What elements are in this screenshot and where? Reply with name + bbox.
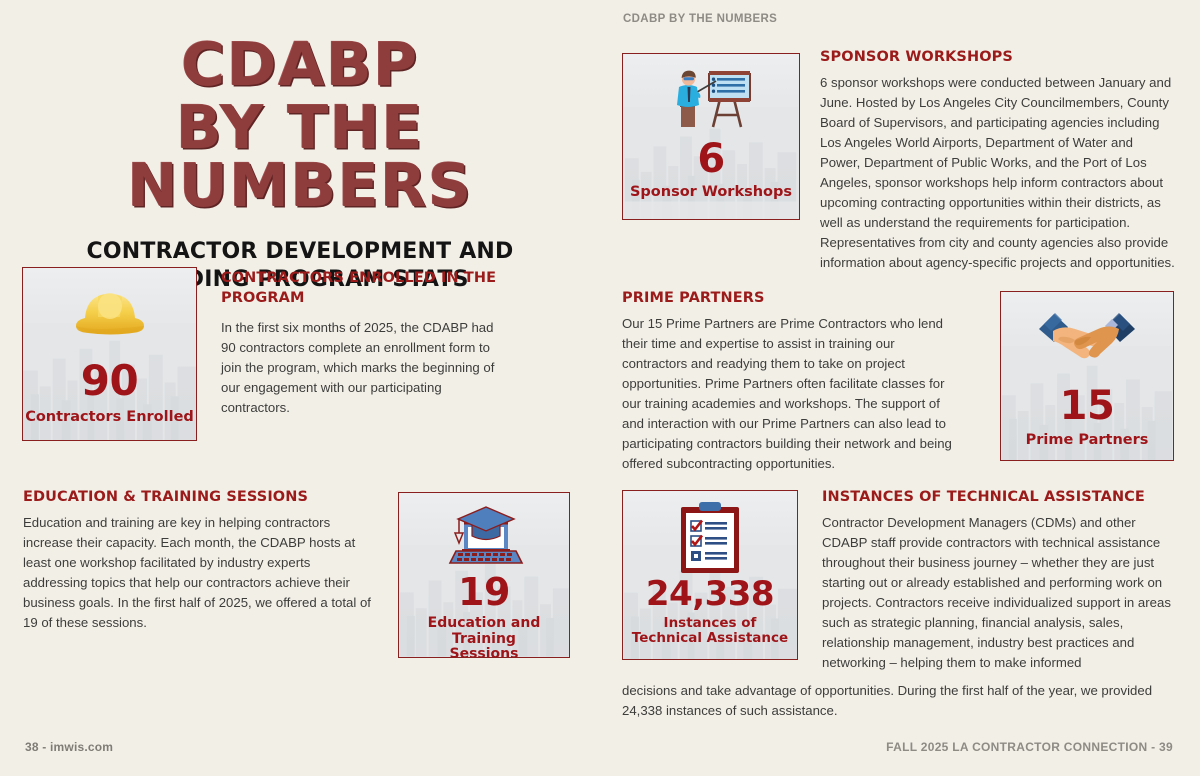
stat-box-content: 6 Sponsor Workshops bbox=[623, 54, 799, 219]
section-title-line2: PROGRAM bbox=[221, 290, 305, 306]
stat-number-prime-partners: 15 bbox=[1060, 386, 1115, 426]
section-title-education-training: EDUCATION & TRAINING SESSIONS bbox=[23, 488, 373, 508]
stat-box-prime-partners: 15 Prime Partners bbox=[1000, 291, 1174, 461]
masthead-title-line1: CDABP bbox=[10, 36, 590, 94]
stat-box-contractors-enrolled: 90 Contractors Enrolled bbox=[22, 267, 197, 441]
laptop-graduation-cap-icon bbox=[438, 503, 530, 569]
stat-caption-sponsor-workshops: Sponsor Workshops bbox=[630, 184, 792, 200]
section-body-education-training: Education and training are key in helpin… bbox=[23, 513, 373, 633]
section-title-contractors-enrolled: CONTRACTORS ENROLLED IN THE PROGRAM bbox=[221, 269, 511, 308]
section-sponsor-workshops: SPONSOR WORKSHOPS 6 sponsor workshops we… bbox=[820, 48, 1176, 273]
masthead: CDABP BY THE NUMBERS CONTRACTOR DEVELOPM… bbox=[10, 36, 590, 295]
masthead-subtitle-line1: CONTRACTOR DEVELOPMENT AND bbox=[10, 238, 590, 267]
stat-box-sponsor-workshops: 6 Sponsor Workshops bbox=[622, 53, 800, 220]
stat-box-content: 15 Prime Partners bbox=[1001, 292, 1173, 460]
clipboard-checklist-icon bbox=[673, 499, 747, 575]
stat-number-education-training: 19 bbox=[458, 573, 510, 611]
section-title-sponsor-workshops: SPONSOR WORKSHOPS bbox=[820, 48, 1176, 68]
stat-box-content: 19 Education and Training Sessions bbox=[399, 493, 569, 657]
masthead-title-line2: BY THE NUMBERS bbox=[10, 99, 590, 215]
stat-number-contractors-enrolled: 90 bbox=[81, 360, 138, 402]
stat-caption-technical-assistance: Instances of Technical Assistance bbox=[632, 616, 788, 646]
stat-number-sponsor-workshops: 6 bbox=[697, 139, 724, 179]
section-education-training: EDUCATION & TRAINING SESSIONS Education … bbox=[23, 488, 373, 633]
folio-right: FALL 2025 LA CONTRACTOR CONNECTION - 39 bbox=[886, 740, 1173, 754]
section-title-prime-partners: PRIME PARTNERS bbox=[622, 289, 962, 309]
stat-caption-line2: Technical Assistance bbox=[632, 631, 788, 646]
running-head: CDABP BY THE NUMBERS bbox=[623, 13, 777, 25]
magazine-spread: CDABP BY THE NUMBERS CDABP BY THE NUMBER… bbox=[0, 0, 1200, 776]
stat-box-content: 90 Contractors Enrolled bbox=[23, 268, 196, 440]
stat-caption-prime-partners: Prime Partners bbox=[1026, 432, 1149, 448]
section-title-line1: CONTRACTORS ENROLLED IN THE bbox=[221, 270, 496, 286]
stat-caption-line2: Sessions bbox=[399, 647, 569, 658]
section-body-prime-partners: Our 15 Prime Partners are Prime Contract… bbox=[622, 314, 962, 475]
section-body-sponsor-workshops: 6 sponsor workshops were conducted betwe… bbox=[820, 73, 1176, 274]
stat-caption-line1: Instances of bbox=[632, 616, 788, 631]
section-technical-assistance: INSTANCES OF TECHNICAL ASSISTANCE Contra… bbox=[822, 488, 1174, 673]
section-body-contractors-enrolled: In the first six months of 2025, the CDA… bbox=[221, 318, 511, 418]
stat-caption-contractors-enrolled: Contractors Enrolled bbox=[25, 409, 194, 425]
stat-caption-education-training: Education and Training Sessions bbox=[399, 616, 569, 658]
stat-number-technical-assistance: 24,338 bbox=[646, 577, 774, 611]
section-body-technical-assistance-top: Contractor Development Managers (CDMs) a… bbox=[822, 513, 1174, 674]
section-contractors-enrolled: CONTRACTORS ENROLLED IN THE PROGRAM In t… bbox=[221, 269, 511, 418]
presenter-at-flipchart-icon bbox=[668, 63, 754, 137]
section-prime-partners: PRIME PARTNERS Our 15 Prime Partners are… bbox=[622, 289, 962, 474]
handshake-icon bbox=[1035, 306, 1139, 362]
section-body-technical-assistance-bottom: decisions and take advantage of opportun… bbox=[622, 681, 1174, 721]
stat-caption-line1: Education and Training bbox=[399, 616, 569, 647]
section-title-technical-assistance: INSTANCES OF TECHNICAL ASSISTANCE bbox=[822, 488, 1174, 508]
hard-hat-icon bbox=[68, 280, 152, 346]
stat-box-technical-assistance: 24,338 Instances of Technical Assistance bbox=[622, 490, 798, 660]
stat-box-education-training: 19 Education and Training Sessions bbox=[398, 492, 570, 658]
folio-left: 38 - imwis.com bbox=[25, 740, 113, 754]
stat-box-content: 24,338 Instances of Technical Assistance bbox=[623, 491, 797, 659]
